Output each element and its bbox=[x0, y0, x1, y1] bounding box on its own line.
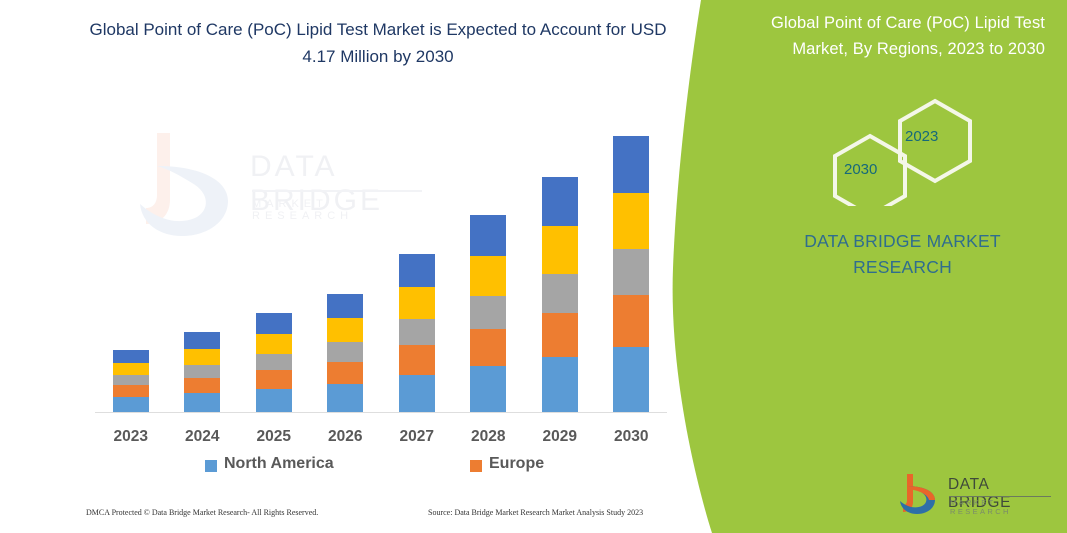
bar-segment-2029-series-4 bbox=[542, 226, 578, 274]
bar-segment-2030-europe bbox=[613, 295, 649, 347]
bar-segment-2027-north-america bbox=[399, 375, 435, 412]
bar-segment-2026-series-4 bbox=[327, 318, 363, 342]
bar-segment-2027-series-5 bbox=[399, 254, 435, 287]
bar-segment-2029-north-america bbox=[542, 357, 578, 412]
chart-legend: North AmericaEurope bbox=[205, 455, 575, 479]
bar-segment-2023-series-3 bbox=[113, 375, 149, 385]
x-axis-label-2028: 2028 bbox=[452, 428, 524, 446]
x-axis-labels: 20232024202520262027202820292030 bbox=[95, 428, 667, 454]
logo-divider bbox=[949, 496, 1051, 497]
legend-swatch-icon bbox=[470, 460, 482, 472]
x-axis-label-2030: 2030 bbox=[595, 428, 667, 446]
bar-segment-2030-series-3 bbox=[613, 249, 649, 295]
bar-segment-2028-series-3 bbox=[470, 296, 506, 329]
bar-2025 bbox=[256, 313, 292, 412]
footer-source: Source: Data Bridge Market Research Mark… bbox=[428, 508, 643, 517]
legend-swatch-icon bbox=[205, 460, 217, 472]
x-axis-label-2027: 2027 bbox=[381, 428, 453, 446]
bar-2026 bbox=[327, 294, 363, 412]
bar-segment-2023-series-5 bbox=[113, 350, 149, 363]
bar-segment-2027-series-4 bbox=[399, 287, 435, 319]
data-bridge-logo: DATA BRIDGE MARKET RESEARCH bbox=[895, 472, 1055, 518]
bar-segment-2028-series-4 bbox=[470, 256, 506, 296]
x-axis-label-2024: 2024 bbox=[166, 428, 238, 446]
bar-segment-2030-series-5 bbox=[613, 136, 649, 193]
logo-subtitle: MARKET RESEARCH bbox=[950, 498, 1055, 516]
bar-segment-2028-europe bbox=[470, 329, 506, 366]
bar-segment-2029-series-3 bbox=[542, 274, 578, 313]
bar-segment-2025-series-4 bbox=[256, 334, 292, 354]
bar-2023 bbox=[113, 350, 149, 412]
bar-segment-2026-series-3 bbox=[327, 342, 363, 362]
bar-segment-2029-europe bbox=[542, 313, 578, 357]
panel-title: Global Point of Care (PoC) Lipid Test Ma… bbox=[760, 10, 1045, 62]
bar-2030 bbox=[613, 136, 649, 412]
bar-segment-2023-series-4 bbox=[113, 363, 149, 375]
bar-segment-2026-north-america bbox=[327, 384, 363, 412]
bar-segment-2024-north-america bbox=[184, 393, 220, 412]
bar-2027 bbox=[399, 254, 435, 412]
green-panel-content: Global Point of Care (PoC) Lipid Test Ma… bbox=[760, 0, 1067, 533]
x-axis-label-2029: 2029 bbox=[524, 428, 596, 446]
data-bridge-mark-icon bbox=[895, 472, 945, 518]
bar-segment-2024-series-5 bbox=[184, 332, 220, 349]
bar-segment-2023-europe bbox=[113, 385, 149, 397]
bar-segment-2027-europe bbox=[399, 345, 435, 375]
hexagon-icons bbox=[810, 96, 1040, 206]
stacked-bar-chart bbox=[95, 120, 667, 412]
bar-2028 bbox=[470, 215, 506, 412]
legend-label: North America bbox=[224, 455, 334, 473]
bar-segment-2025-series-5 bbox=[256, 313, 292, 334]
bar-segment-2030-series-4 bbox=[613, 193, 649, 249]
bar-segment-2025-north-america bbox=[256, 389, 292, 412]
page-title: Global Point of Care (PoC) Lipid Test Ma… bbox=[78, 16, 678, 70]
axis-baseline bbox=[95, 412, 667, 413]
hexagon-2023-label: 2023 bbox=[905, 128, 938, 145]
x-axis-label-2023: 2023 bbox=[95, 428, 167, 446]
footer-copyright: DMCA Protected © Data Bridge Market Rese… bbox=[86, 508, 318, 517]
bar-segment-2028-north-america bbox=[470, 366, 506, 412]
x-axis-label-2025: 2025 bbox=[238, 428, 310, 446]
brand-name: DATA BRIDGE MARKET RESEARCH bbox=[760, 228, 1045, 280]
bar-segment-2026-series-5 bbox=[327, 294, 363, 318]
bar-segment-2030-north-america bbox=[613, 347, 649, 412]
legend-label: Europe bbox=[489, 455, 544, 473]
bar-segment-2026-europe bbox=[327, 362, 363, 384]
bar-segment-2024-europe bbox=[184, 378, 220, 393]
bar-segment-2029-series-5 bbox=[542, 177, 578, 226]
bar-segment-2024-series-3 bbox=[184, 365, 220, 378]
hexagon-2030-label: 2030 bbox=[844, 161, 877, 178]
bar-segment-2025-europe bbox=[256, 370, 292, 389]
bar-2029 bbox=[542, 177, 578, 412]
bar-segment-2027-series-3 bbox=[399, 319, 435, 345]
infographic-canvas: Global Point of Care (PoC) Lipid Test Ma… bbox=[0, 0, 1067, 533]
bar-segment-2023-north-america bbox=[113, 397, 149, 412]
x-axis-label-2026: 2026 bbox=[309, 428, 381, 446]
bar-segment-2025-series-3 bbox=[256, 354, 292, 370]
bar-2024 bbox=[184, 332, 220, 412]
bar-segment-2028-series-5 bbox=[470, 215, 506, 256]
hexagon-group bbox=[810, 96, 1040, 196]
bar-segment-2024-series-4 bbox=[184, 349, 220, 365]
